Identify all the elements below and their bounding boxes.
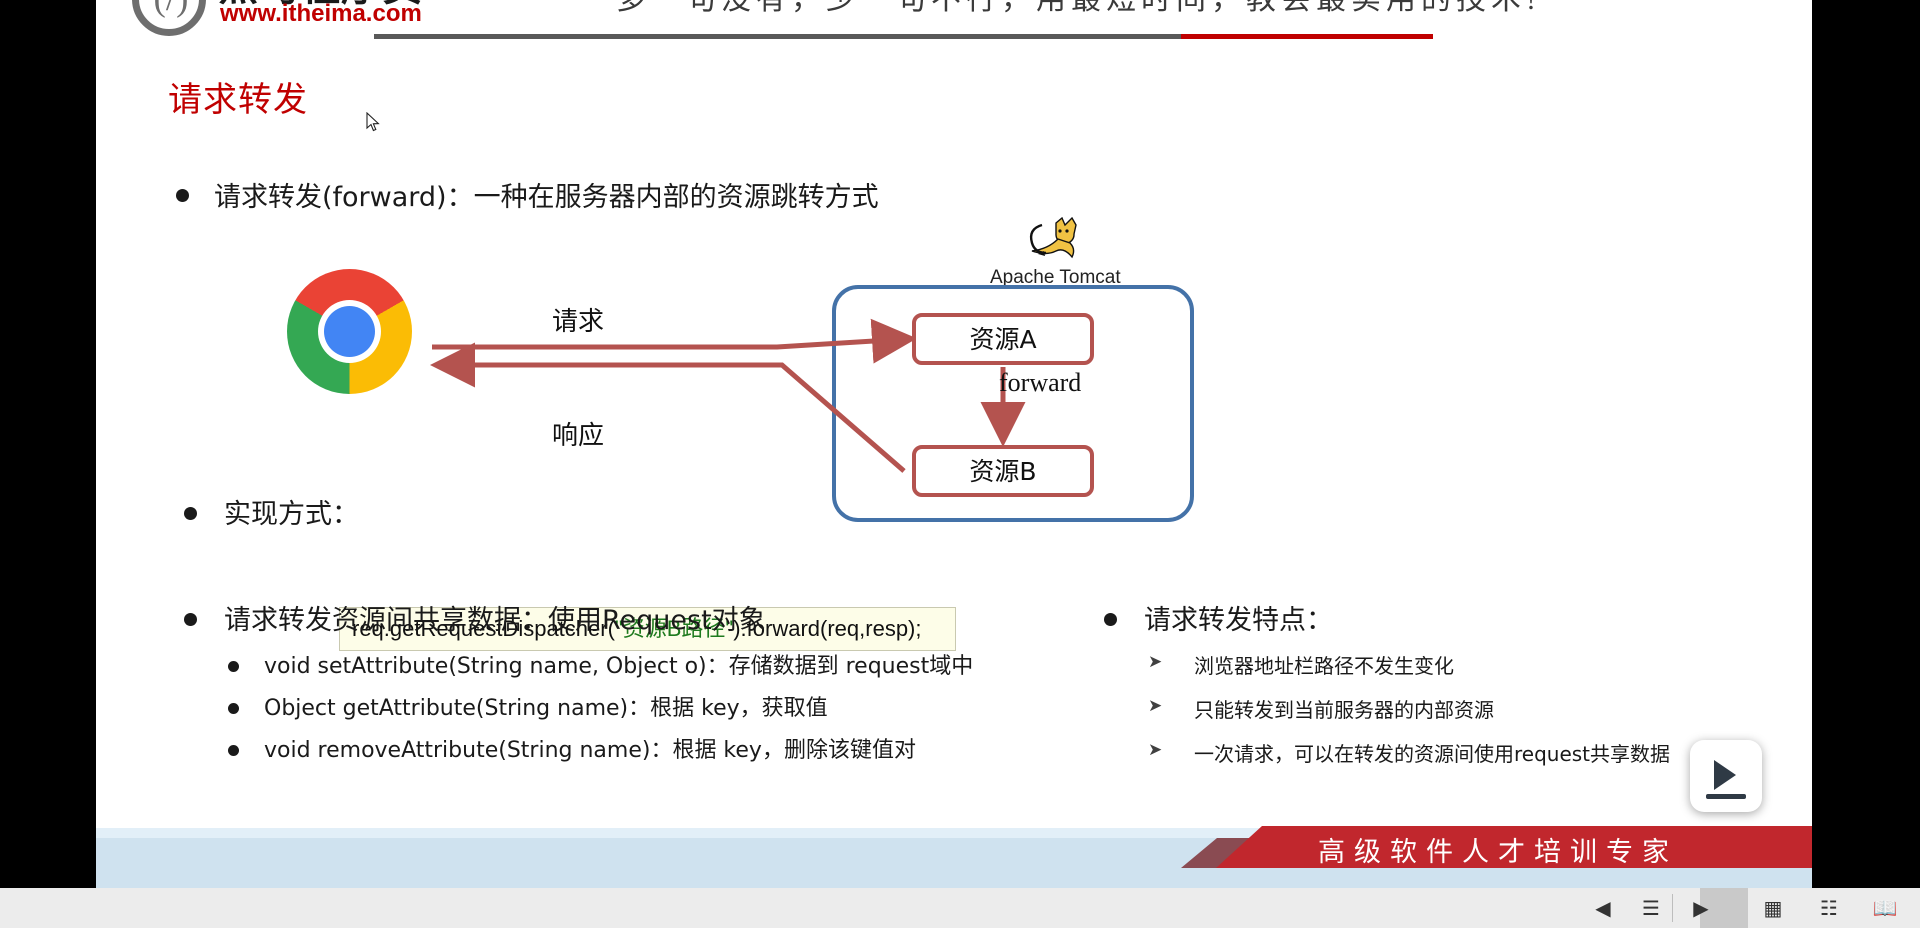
floating-video-widget[interactable] xyxy=(1690,740,1762,812)
chevron-right-icon: ➤ xyxy=(1148,740,1162,760)
notes-icon[interactable]: ☰ xyxy=(1638,896,1664,920)
bottom-toolbar: ◀ ☰ ▶ ▦ ☷ 📖 ☐ xyxy=(0,888,1920,928)
letterbox-left xyxy=(0,0,96,928)
bullet-implementation: 实现方式： xyxy=(224,492,359,531)
widget-handle[interactable] xyxy=(1706,794,1746,799)
bullet-marker xyxy=(1104,613,1117,626)
logo-code-glyph-icon: (/) xyxy=(144,0,198,26)
page-title: 请求转发 xyxy=(168,72,308,121)
request-label: 请求 xyxy=(552,301,604,338)
sub-bullet-marker xyxy=(228,745,239,756)
screen: (/) 黑马程序员 www.itheima.com 多一句没有，少一句不行，用最… xyxy=(0,0,1920,928)
normal-view-icon[interactable]: ▦ xyxy=(1760,896,1786,920)
sub-bullet-remove-attribute: void removeAttribute(String name)：根据 key… xyxy=(264,732,916,764)
resource-a-box: 资源A xyxy=(912,313,1094,365)
reading-view-icon[interactable]: 📖 xyxy=(1872,896,1898,920)
prev-slide-icon[interactable]: ◀ xyxy=(1590,896,1616,920)
play-icon[interactable] xyxy=(1714,760,1736,790)
slide-sorter-icon[interactable]: ☷ xyxy=(1816,896,1842,920)
sub-bullet-get-attribute: Object getAttribute(String name)：根据 key，… xyxy=(264,690,828,722)
next-slide-icon[interactable]: ▶ xyxy=(1688,896,1714,920)
request-arrow xyxy=(432,339,907,347)
response-label: 响应 xyxy=(552,415,604,452)
bullet-marker xyxy=(176,189,189,202)
feature-url-unchanged: 浏览器地址栏路径不发生变化 xyxy=(1194,650,1454,679)
bullet-share-data: 请求转发资源间共享数据：使用Request对象 xyxy=(224,598,766,637)
header-slogan: 多一句没有，少一句不行，用最短时间，教会最实用的技术! xyxy=(616,0,1736,16)
feature-single-request: 一次请求，可以在转发的资源间使用request共享数据 xyxy=(1194,738,1670,767)
sub-bullet-set-attribute: void setAttribute(String name, Object o)… xyxy=(264,648,973,680)
feature-internal-only: 只能转发到当前服务器的内部资源 xyxy=(1194,694,1494,723)
bullet-marker xyxy=(184,613,197,626)
forward-diagram: Apache Tomcat 请求 响应 资源A 资源B xyxy=(192,225,1132,515)
sub-bullet-marker xyxy=(228,661,239,672)
bullet-marker xyxy=(184,507,197,520)
resource-b-box: 资源B xyxy=(912,445,1094,497)
bullet-forward-features: 请求转发特点： xyxy=(1144,598,1333,637)
response-arrow xyxy=(440,365,904,471)
sub-bullet-marker xyxy=(228,703,239,714)
footer-ribbon-text: 高级软件人才培训专家 xyxy=(1318,830,1678,869)
header-rule-accent xyxy=(1181,34,1433,39)
mouse-cursor xyxy=(366,112,380,132)
chevron-right-icon: ➤ xyxy=(1148,652,1162,672)
slide-header: (/) 黑马程序员 www.itheima.com 多一句没有，少一句不行，用最… xyxy=(96,0,1812,48)
logo-website-url: www.itheima.com xyxy=(220,0,422,28)
bullet-forward-definition: 请求转发(forward)：一种在服务器内部的资源跳转方式 xyxy=(214,175,879,214)
forward-label: forward xyxy=(999,368,1081,398)
letterbox-right xyxy=(1812,0,1920,928)
chevron-right-icon: ➤ xyxy=(1148,696,1162,716)
slide-canvas: (/) 黑马程序员 www.itheima.com 多一句没有，少一句不行，用最… xyxy=(96,0,1812,888)
toolbar-icon-group: ◀ ☰ ▶ ▦ ☷ 📖 ☐ xyxy=(1545,888,1920,928)
